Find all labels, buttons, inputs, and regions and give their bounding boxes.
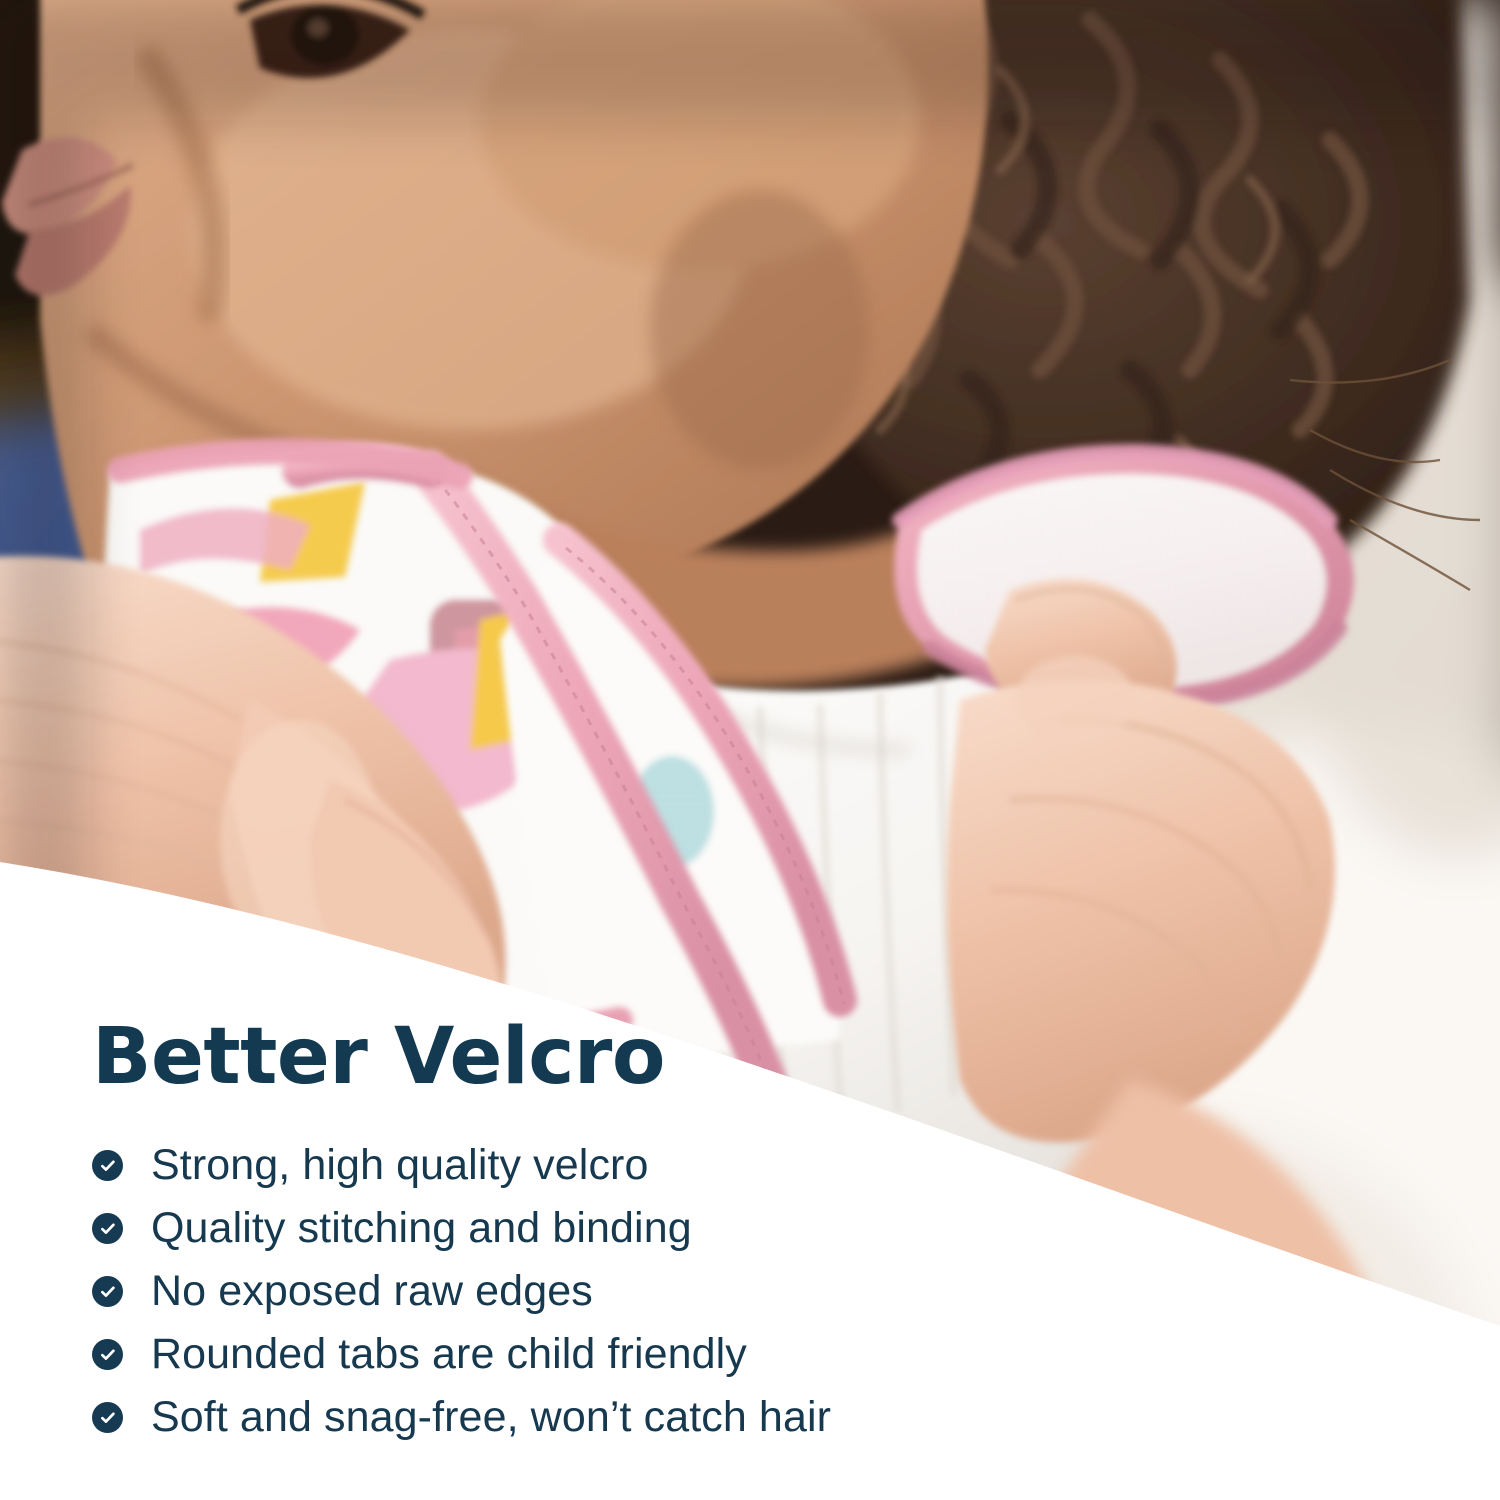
check-circle-icon [92,1339,123,1370]
page-title: Better Velcro [92,1018,1392,1096]
list-item-label: Rounded tabs are child friendly [151,1333,747,1376]
list-item: Strong, high quality velcro [92,1134,1392,1197]
list-item-label: Quality stitching and binding [151,1207,692,1250]
list-item: Quality stitching and binding [92,1197,1392,1260]
list-item: Soft and snag-free, won’t catch hair [92,1386,1392,1449]
check-circle-icon [92,1276,123,1307]
list-item-label: No exposed raw edges [151,1270,593,1313]
feature-list: Strong, high quality velcro Quality stit… [92,1134,1392,1449]
check-circle-icon [92,1213,123,1244]
list-item-label: Soft and snag-free, won’t catch hair [151,1396,831,1439]
product-feature-card: Better Velcro Strong, high quality velcr… [0,0,1500,1500]
list-item: Rounded tabs are child friendly [92,1323,1392,1386]
list-item: No exposed raw edges [92,1260,1392,1323]
check-circle-icon [92,1402,123,1433]
check-circle-icon [92,1150,123,1181]
list-item-label: Strong, high quality velcro [151,1144,648,1187]
feature-text-block: Better Velcro Strong, high quality velcr… [92,1018,1392,1449]
